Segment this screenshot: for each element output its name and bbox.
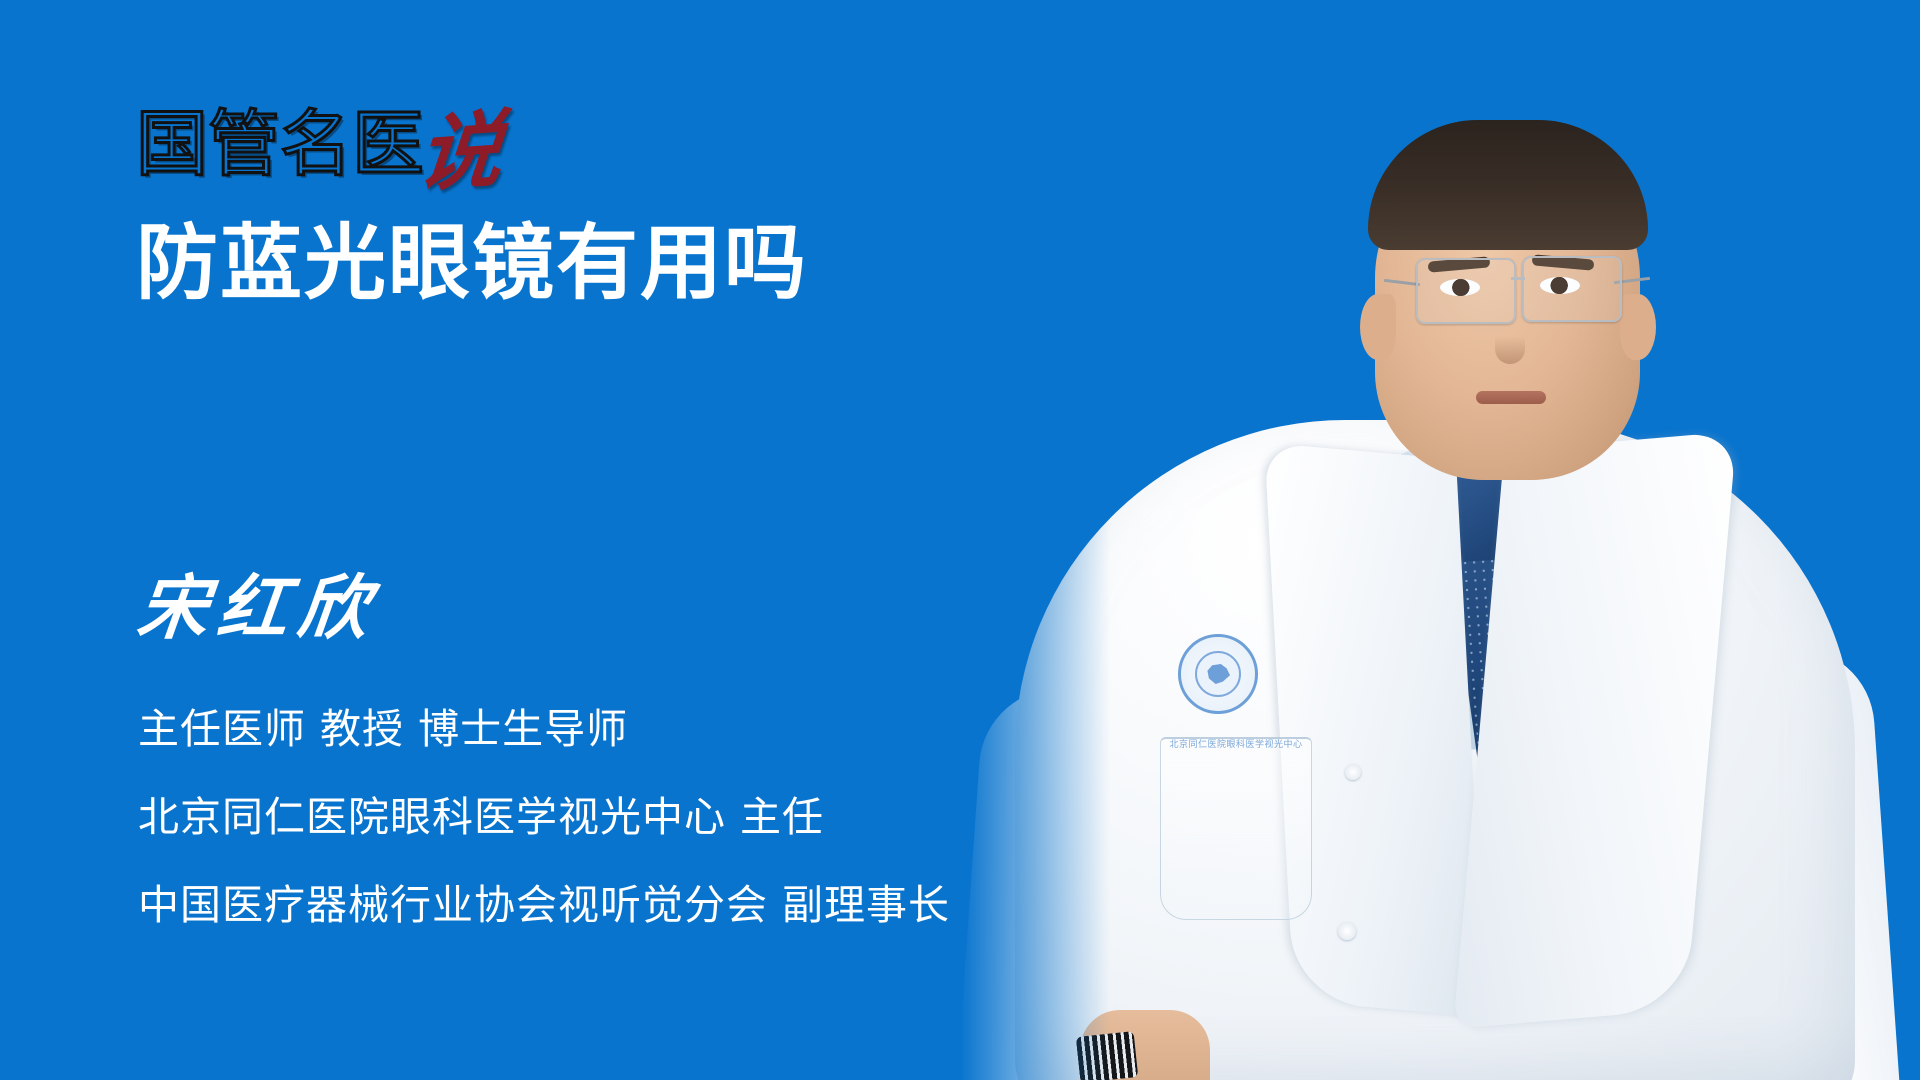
poster-canvas: 国管名医 说 防蓝光眼镜有用吗 宋红欣 主任医师 教授 博士生导师 北京同仁医院… [0, 0, 1920, 1080]
doctor-credentials: 主任医师 教授 博士生导师 北京同仁医院眼科医学视光中心 主任 中国医疗器械行业… [138, 706, 950, 928]
coat-button-lower [1338, 922, 1356, 940]
credential-line-1: 主任医师 教授 博士生导师 [138, 706, 950, 752]
doctor-name: 宋红欣 [134, 570, 382, 646]
page-title: 防蓝光眼镜有用吗 [136, 218, 808, 310]
ear-left [1360, 294, 1396, 360]
hospital-emblem-caption: 北京同仁医院眼科医学视光中心 [1166, 737, 1306, 750]
coat-pocket [1160, 737, 1312, 920]
wristwatch [1076, 1031, 1138, 1080]
coat-button-upper [1345, 764, 1361, 780]
eyeglasses-bridge [1511, 277, 1525, 280]
doctor-portrait-image: 北京同仁医院眼科医学视光中心 [960, 0, 1920, 1080]
brand-logo-main-text: 国管名医 [136, 108, 424, 180]
brand-logo-accent-text: 说 [414, 113, 505, 191]
hair [1368, 120, 1648, 250]
eyeglasses-lens-left [1416, 258, 1516, 324]
nose [1495, 318, 1525, 364]
coat-lapel-left [1264, 443, 1485, 1017]
hospital-emblem-inner [1195, 651, 1241, 697]
credential-line-2: 北京同仁医院眼科医学视光中心 主任 [138, 794, 950, 840]
credential-line-3: 中国医疗器械行业协会视听觉分会 副理事长 [138, 882, 950, 928]
eyeglasses-lens-right [1522, 256, 1622, 322]
ear-right [1620, 294, 1656, 360]
hospital-emblem-icon [1178, 634, 1258, 714]
brand-logo: 国管名医 说 [136, 94, 502, 180]
mouth [1476, 391, 1546, 404]
